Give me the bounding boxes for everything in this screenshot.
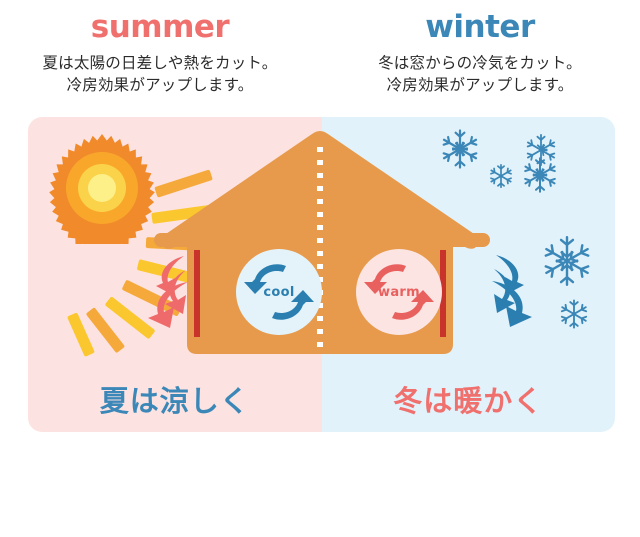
cold-deflect-arrow [480,251,552,331]
illustration-panel: cool warm [28,117,615,432]
cool-badge: cool [236,249,322,335]
summer-title: summer [0,0,320,43]
warm-badge-label: warm [378,285,420,300]
infographic-root: summer 夏は太陽の日差しや熱をカット。 冷房効果がアップします。 wint… [0,0,640,537]
heat-deflect-arrow [128,252,200,332]
summer-caption: 夏は涼しく [28,378,322,420]
winter-subtitle-line2: 冷房効果がアップします。 [320,74,640,96]
warm-badge: warm [356,249,442,335]
cool-badge-label: cool [263,285,294,300]
winter-heading-block: winter 冬は窓からの冷気をカット。 冷房効果がアップします。 [320,0,640,97]
winter-title: winter [320,0,640,43]
winter-subtitle: 冬は窓からの冷気をカット。 冷房効果がアップします。 [320,52,640,97]
winter-caption: 冬は暖かく [322,378,616,420]
summer-heading-block: summer 夏は太陽の日差しや熱をカット。 冷房効果がアップします。 [0,0,320,97]
winter-subtitle-line1: 冬は窓からの冷気をカット。 [320,52,640,74]
summer-subtitle-line2: 冷房効果がアップします。 [0,74,320,96]
summer-subtitle: 夏は太陽の日差しや熱をカット。 冷房効果がアップします。 [0,52,320,97]
summer-subtitle-line1: 夏は太陽の日差しや熱をカット。 [0,52,320,74]
